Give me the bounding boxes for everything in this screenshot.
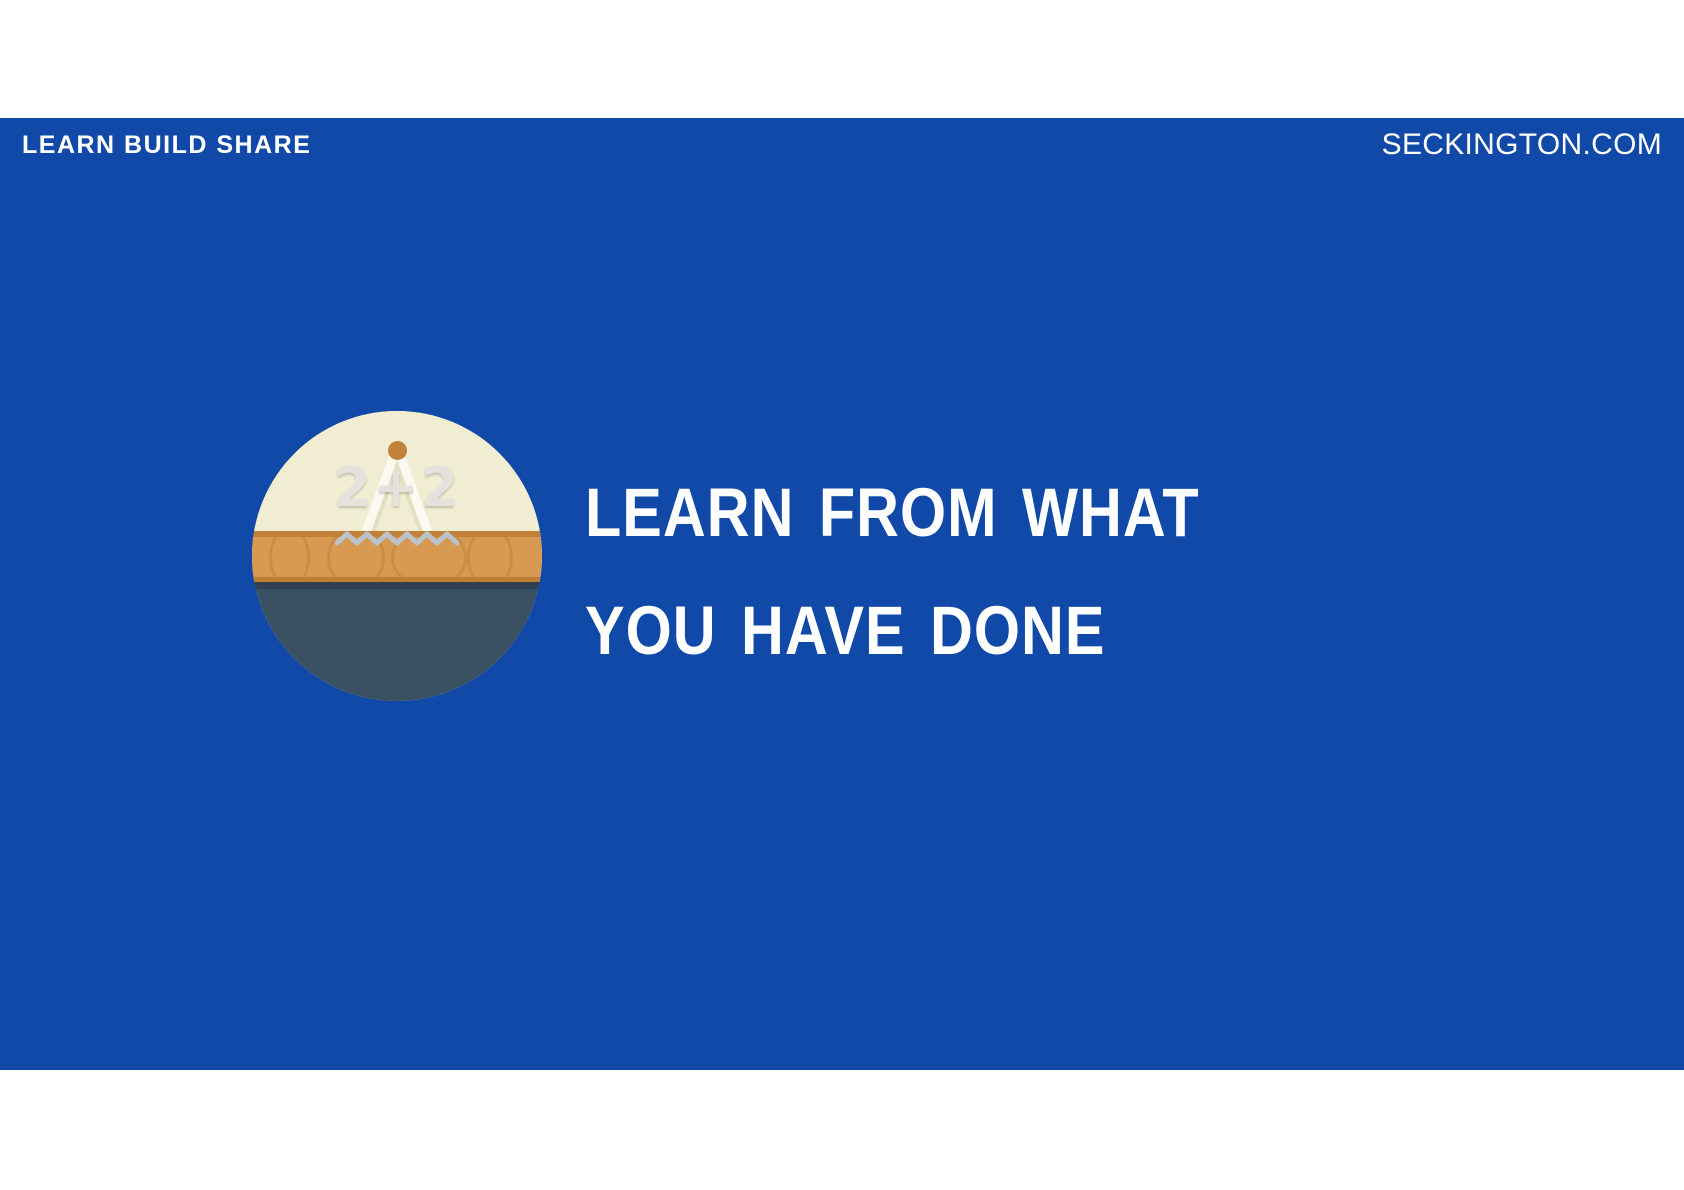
slide-canvas: LEARN BUILD SHARE SECKINGTON.COM 2+2 bbox=[0, 0, 1684, 1190]
chalkboard-easel-icon: 2+2 bbox=[252, 411, 542, 701]
wood-grain-icon bbox=[269, 537, 310, 576]
headline-line-1: Learn from what bbox=[585, 443, 1273, 561]
chalkboard-surface bbox=[252, 582, 542, 701]
chalkboard-top-rim bbox=[252, 582, 542, 589]
headline-line-2: you have done bbox=[585, 561, 1273, 679]
wood-grain-icon bbox=[467, 537, 513, 576]
chalk-squiggle-icon bbox=[335, 531, 459, 547]
chalkboard-equation-text: 2+2 bbox=[252, 461, 542, 515]
brand-tagline-left: LEARN BUILD SHARE bbox=[22, 133, 311, 158]
icon-circle-clip: 2+2 bbox=[252, 411, 542, 701]
page-title: Learn from what you have done bbox=[585, 443, 1385, 679]
brand-website-right: SECKINGTON.COM bbox=[1382, 130, 1662, 160]
